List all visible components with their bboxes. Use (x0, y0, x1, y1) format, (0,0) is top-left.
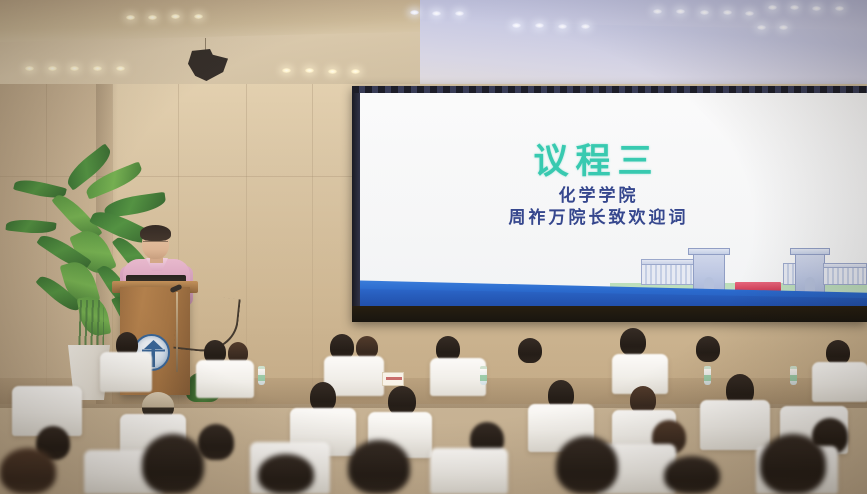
audience-chair (430, 358, 486, 396)
ceiling-downlight (93, 66, 102, 71)
audience-chair (812, 362, 867, 402)
ceiling-downlight (194, 14, 203, 19)
gate-colonnade (823, 267, 867, 285)
ceiling-downlight (558, 24, 567, 29)
ceiling-downlight (328, 69, 337, 74)
ceiling-downlight (757, 25, 766, 30)
seat-name-card (382, 372, 404, 386)
ceiling-downlight (700, 10, 709, 15)
ceiling-downlight (410, 10, 419, 15)
audience-head-foreground (760, 434, 826, 494)
audience-head-foreground (258, 454, 314, 494)
audience-head-foreground (348, 440, 410, 494)
water-bottle (704, 366, 711, 385)
audience-chair (100, 352, 152, 392)
ceiling-downlight (790, 5, 799, 10)
ceiling-downlight (768, 5, 777, 10)
audience-chair (430, 448, 508, 494)
ceiling-downlight (126, 15, 135, 20)
ceiling-downlight (48, 66, 57, 71)
ceiling-downlight (723, 10, 732, 15)
ceiling-downlight (305, 68, 314, 73)
screen-bezel-top (352, 86, 867, 93)
audience-head (518, 338, 542, 363)
screen-bezel-bottom (352, 306, 867, 322)
ceiling-downlight (116, 66, 125, 71)
slide-title: 议程三 (360, 133, 833, 184)
water-bottle (790, 366, 797, 385)
audience-head (198, 424, 234, 460)
ceiling-downlight (835, 6, 844, 11)
ceiling-downlight (653, 9, 662, 14)
gate-cap (790, 248, 830, 255)
presentation-slide: 议程三 化学学院 周祚万院长致欢迎词 (360, 93, 867, 307)
auditorium-photo: 议程三 化学学院 周祚万院长致欢迎词 (0, 0, 867, 494)
audience-chair (196, 360, 254, 398)
gate-cap (688, 248, 730, 255)
ceiling-downlight (171, 14, 180, 19)
ceiling-downlight (351, 69, 360, 74)
audience-seating (0, 330, 867, 494)
ceiling-downlight (745, 11, 754, 16)
screen-bezel-left (352, 86, 360, 322)
audience-head-foreground (664, 456, 720, 494)
audience-head-foreground (0, 448, 56, 494)
audience-head (696, 336, 720, 362)
ceiling-downlight (581, 24, 590, 29)
audience-chair (700, 400, 770, 450)
water-bottle (480, 366, 487, 385)
ceiling-downlight (25, 66, 34, 71)
ceiling-downlight (455, 11, 464, 16)
audience-head (620, 328, 646, 356)
audience-head-foreground (556, 436, 618, 494)
ceiling-downlight (148, 15, 157, 20)
slide-subtitle-line2: 周祚万院长致欢迎词 (360, 203, 837, 228)
ceiling-downlight (432, 11, 441, 16)
water-bottle (258, 366, 265, 385)
ceiling-downlight (676, 9, 685, 14)
ceiling-downlight (70, 66, 79, 71)
ceiling-downlight (282, 68, 291, 73)
gate-arch (805, 277, 815, 293)
ceiling-downlight (779, 25, 788, 30)
speaker-hair (140, 225, 171, 241)
gate-colonnade (641, 263, 699, 285)
speaker-glasses (143, 241, 168, 245)
ceiling-downlight (512, 23, 521, 28)
audience-head-foreground (142, 434, 204, 494)
campus-gate-illustration (617, 241, 867, 293)
gate-banner (735, 282, 781, 291)
ceiling-downlight (812, 6, 821, 11)
ceiling-downlight (535, 23, 544, 28)
